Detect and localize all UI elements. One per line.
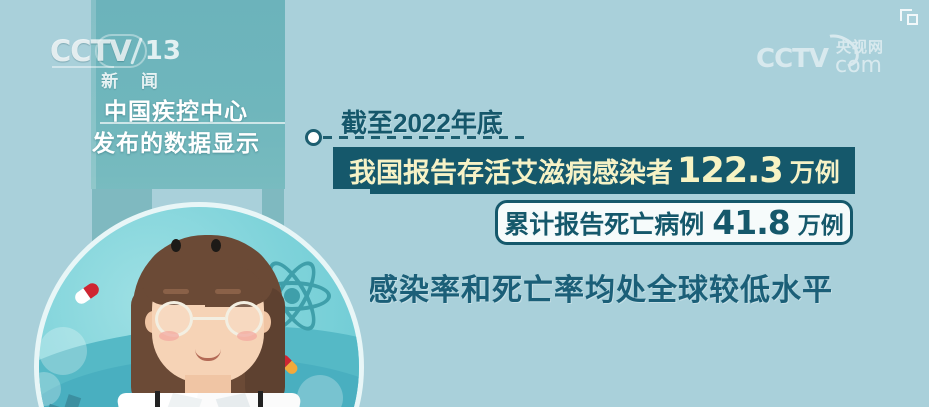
stat-unit: 万例: [790, 153, 840, 189]
square-front: [907, 14, 918, 25]
cctv-watermark: CCTV 央视网 com: [756, 38, 896, 78]
stat-value: 122.3: [677, 151, 783, 191]
female-doctor-illustration: [30, 189, 370, 407]
stat-unit: 万例: [798, 206, 844, 240]
blush-left: [159, 331, 179, 341]
blush-right: [237, 331, 257, 341]
capsule-pill-icon: [73, 281, 102, 307]
doctor-avatar: [119, 227, 299, 407]
stat-bar-deaths: 累计报告死亡病例 41.8 万例: [495, 200, 853, 245]
eye-right: [211, 239, 221, 252]
stat-label: 我国报告存活艾滋病感染者: [349, 151, 673, 190]
date-label: 截至2022年底: [341, 103, 503, 140]
source-line-1: 中国疾控中心: [104, 92, 284, 126]
eye-left: [171, 239, 181, 252]
cctv-logo: CCTV 13: [50, 36, 185, 66]
stat-bar-infections: 我国报告存活艾滋病感染者 122.3 万例: [333, 147, 855, 194]
channel-number: 13: [145, 36, 181, 66]
source-line-2: 发布的数据显示: [92, 124, 288, 158]
stethoscope-tube-right: [211, 391, 263, 407]
slash-divider-icon: [131, 36, 145, 66]
eyebrow-left: [163, 289, 189, 294]
overlapping-squares-icon[interactable]: [900, 9, 920, 27]
stat-value: 41.8: [712, 203, 789, 242]
eyebrow-right: [215, 289, 241, 294]
cctv-logo-text: CCTV: [50, 36, 131, 66]
glasses-bridge: [193, 317, 225, 320]
cross-vertical: [56, 394, 81, 407]
channel-name: 新 闻: [84, 67, 184, 92]
watermark-brand: CCTV: [756, 44, 828, 74]
watermark-domain: com: [835, 53, 882, 78]
bubble-decor: [39, 327, 87, 375]
node-dot-icon: [305, 129, 322, 146]
stat-label: 累计报告死亡病例: [504, 205, 704, 241]
stethoscope-icon: [155, 391, 207, 407]
broadcast-graphic-stage: CCTV 13 新 闻 中国疾控中心 发布的数据显示 截至2022年底 我国报告…: [0, 0, 929, 407]
conclusion-text: 感染率和死亡率均处全球较低水平: [368, 265, 833, 309]
hair-bangs: [143, 243, 273, 305]
